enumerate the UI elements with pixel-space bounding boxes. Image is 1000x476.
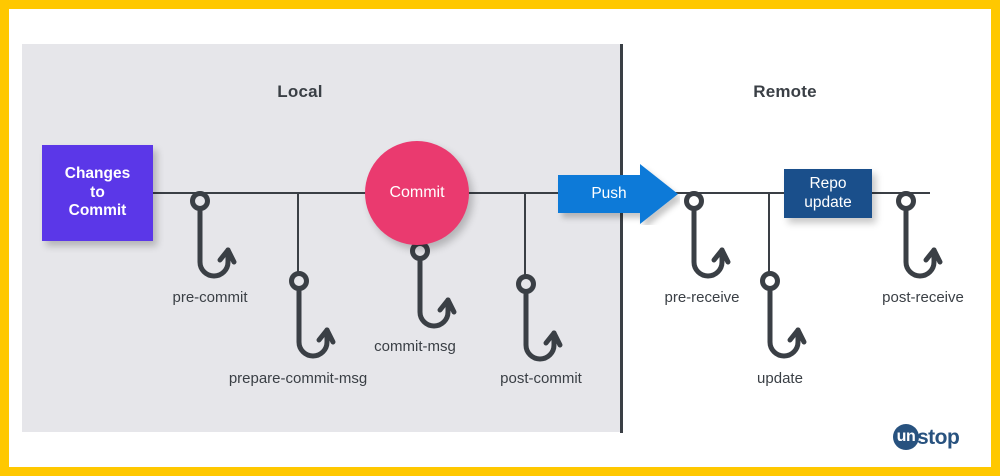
unstop-logo[interactable]: un stop xyxy=(893,424,959,450)
hook-pre-receive-icon xyxy=(676,190,740,290)
tick-post-commit xyxy=(524,193,526,276)
unstop-logo-mark-text: un xyxy=(897,428,916,446)
tick-update xyxy=(768,193,770,273)
hook-update-icon xyxy=(752,270,816,370)
hook-label-post-commit: post-commit xyxy=(450,370,632,387)
diagram-canvas: Local Remote pre-commit prepare-commit-m… xyxy=(0,0,1000,476)
hook-label-update: update xyxy=(700,370,860,387)
hook-label-commit-msg: commit-msg xyxy=(330,338,500,355)
unstop-logo-word: stop xyxy=(917,427,959,448)
repo-update-line1: Repo xyxy=(804,175,851,194)
changes-to-commit-line1: Changes xyxy=(65,165,130,184)
hook-label-prepare-commit-msg: prepare-commit-msg xyxy=(188,370,408,387)
hook-label-pre-receive: pre-receive xyxy=(604,289,800,306)
diagram-page: Local Remote pre-commit prepare-commit-m… xyxy=(0,0,1000,476)
hook-label-pre-commit: pre-commit xyxy=(110,289,310,306)
unstop-logo-mark: un xyxy=(893,424,919,450)
hook-commit-msg-icon xyxy=(402,240,466,340)
push-arrow-icon xyxy=(556,163,680,225)
hook-prepare-commit-msg-icon xyxy=(281,270,345,370)
push-arrow-node[interactable]: Push xyxy=(556,163,680,225)
tick-prepare-commit-msg xyxy=(297,193,299,273)
local-section-title: Local xyxy=(0,82,600,102)
hook-post-receive-icon xyxy=(888,190,952,290)
repo-update-line2: update xyxy=(804,194,851,213)
changes-to-commit-line3: Commit xyxy=(65,202,130,221)
commit-node[interactable]: Commit xyxy=(365,141,469,245)
repo-update-node[interactable]: Repo update xyxy=(784,169,872,218)
hook-label-post-receive: post-receive xyxy=(828,289,1000,306)
changes-to-commit-node[interactable]: Changes to Commit xyxy=(42,145,153,241)
hook-pre-commit-icon xyxy=(182,190,246,290)
commit-node-label: Commit xyxy=(389,184,444,202)
remote-section-title: Remote xyxy=(620,82,950,102)
changes-to-commit-line2: to xyxy=(65,184,130,203)
hook-post-commit-icon xyxy=(508,273,572,373)
